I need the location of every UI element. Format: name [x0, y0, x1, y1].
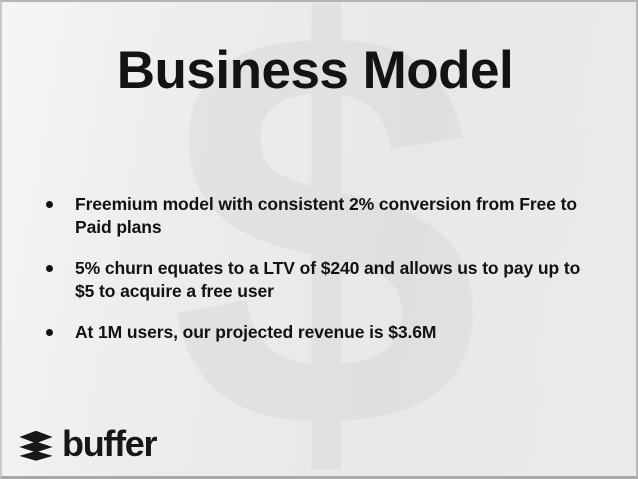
slide-title: Business Model — [0, 42, 632, 99]
bullet-text: At 1M users, our projected revenue is $3… — [75, 321, 436, 344]
buffer-logo: buffer — [18, 427, 156, 463]
list-item: At 1M users, our projected revenue is $3… — [46, 321, 606, 344]
buffer-wordmark: buffer — [62, 426, 156, 462]
presentation-slide: $ Business Model Freemium model with con… — [0, 0, 638, 479]
bullet-text: Freemium model with consistent 2% conver… — [75, 193, 587, 239]
list-item: Freemium model with consistent 2% conver… — [46, 193, 606, 239]
bullet-dot-icon — [46, 265, 53, 272]
list-item: 5% churn equates to a LTV of $240 and al… — [46, 257, 606, 303]
bullet-dot-icon — [46, 329, 53, 336]
bullet-text: 5% churn equates to a LTV of $240 and al… — [75, 257, 587, 303]
bullet-dot-icon — [46, 201, 53, 208]
stacked-layers-icon — [18, 430, 54, 461]
bullet-list: Freemium model with consistent 2% conver… — [46, 193, 606, 344]
